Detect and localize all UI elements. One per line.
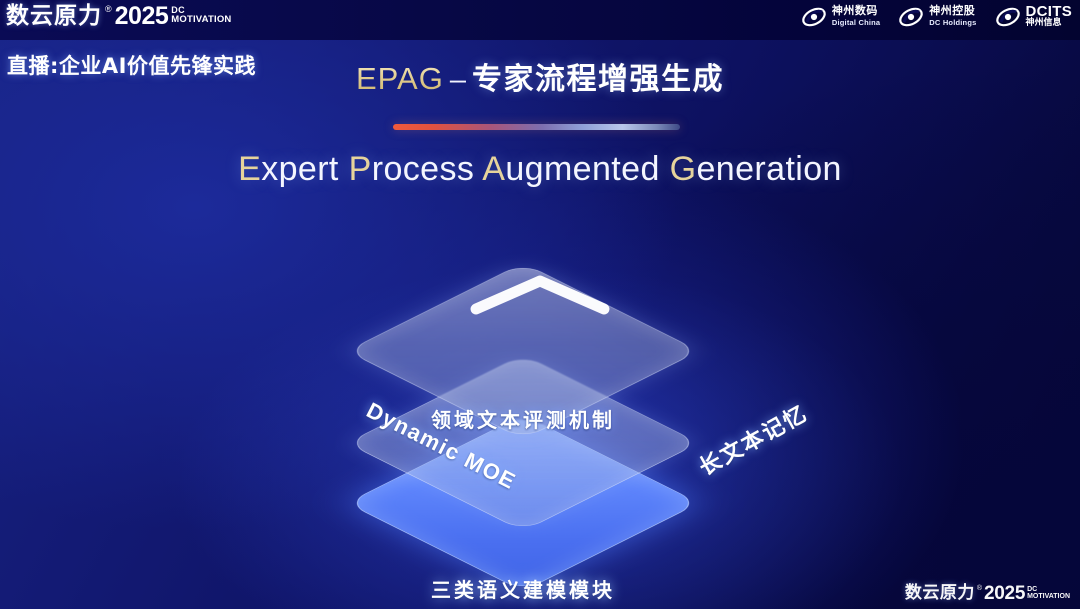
dc-holdings-swoosh-icon <box>898 5 924 29</box>
watermark-year: 2025 <box>984 584 1025 603</box>
subtitle-rest-augmented: ugmented <box>505 150 659 188</box>
watermark-name-cn: 数云原力 <box>905 584 975 603</box>
brand-dc-motivation: DC MOTIVATION <box>171 3 231 24</box>
partner-text-digital-china: 神州数码 Digital China <box>832 6 880 28</box>
subtitle-cap-g: G <box>670 150 697 188</box>
diagram-layer-middle-right-label: 长文本记忆 <box>692 396 812 482</box>
watermark-registered-mark: ® <box>977 584 982 593</box>
subtitle-word-process: Process <box>349 150 475 188</box>
partner-name-en: DCITS <box>1026 7 1073 17</box>
brand-dc-line2: MOTIVATION <box>171 15 231 24</box>
diagram-layer-top: 领域文本评测机制 <box>398 226 648 476</box>
brand-name-cn: 数云原力 <box>6 3 102 29</box>
partner-name-en: DC Holdings <box>929 18 976 28</box>
title-chinese: 专家流程增强生成 <box>472 62 724 97</box>
subtitle-cap-e: E <box>238 150 261 188</box>
watermark-dc-line2: MOTIVATION <box>1027 593 1070 600</box>
brand-registered-mark: ® <box>105 3 112 15</box>
partner-logo-dc-holdings: 神州控股 DC Holdings <box>898 5 976 29</box>
subtitle-rest-expert: xpert <box>261 150 339 188</box>
partner-logo-dcits: DCITS 神州信息 <box>995 5 1073 29</box>
digital-china-swoosh-icon <box>801 5 827 29</box>
watermark-dc-motivation: DC MOTIVATION <box>1027 584 1070 600</box>
partner-name-cn: 神州控股 <box>929 6 976 16</box>
partner-name-cn: 神州数码 <box>832 6 880 16</box>
subtitle-word-generation: Generation <box>670 150 842 188</box>
brand-year: 2025 <box>115 3 169 29</box>
watermark-dc-line1: DC <box>1027 586 1070 593</box>
diagram-layer-top-surface <box>346 263 700 440</box>
slide-canvas: 数云原力 ® 2025 DC MOTIVATION 直播:企业AI价值先锋实践 … <box>0 0 1080 609</box>
slide-subtitle: Expert Process Augmented Generation <box>0 150 1080 189</box>
partner-text-dc-holdings: 神州控股 DC Holdings <box>929 6 976 28</box>
partner-logos: 神州数码 Digital China 神州控股 DC Holdings <box>801 5 1072 29</box>
partner-text-dcits: DCITS 神州信息 <box>1026 7 1073 28</box>
partner-name-cn: 神州信息 <box>1026 18 1073 28</box>
subtitle-rest-generation: eneration <box>696 150 841 188</box>
title-dash: – <box>444 64 472 96</box>
subtitle-word-expert: Expert <box>238 150 339 188</box>
title-acronym: EPAG <box>356 61 444 96</box>
live-stream-label: 直播:企业AI价值先锋实践 <box>7 50 256 80</box>
subtitle-cap-p: P <box>349 150 372 188</box>
subtitle-word-augmented: Augmented <box>482 150 660 188</box>
partner-logo-digital-china: 神州数码 Digital China <box>801 5 880 29</box>
subtitle-cap-a: A <box>482 150 505 188</box>
dcits-swoosh-icon <box>995 5 1021 29</box>
footer-watermark: 数云原力 ® 2025 DC MOTIVATION <box>905 584 1070 603</box>
partner-name-en: Digital China <box>832 18 880 28</box>
title-divider <box>393 124 680 130</box>
brand-logo: 数云原力 ® 2025 DC MOTIVATION <box>6 3 232 29</box>
subtitle-rest-process: rocess <box>372 150 475 188</box>
